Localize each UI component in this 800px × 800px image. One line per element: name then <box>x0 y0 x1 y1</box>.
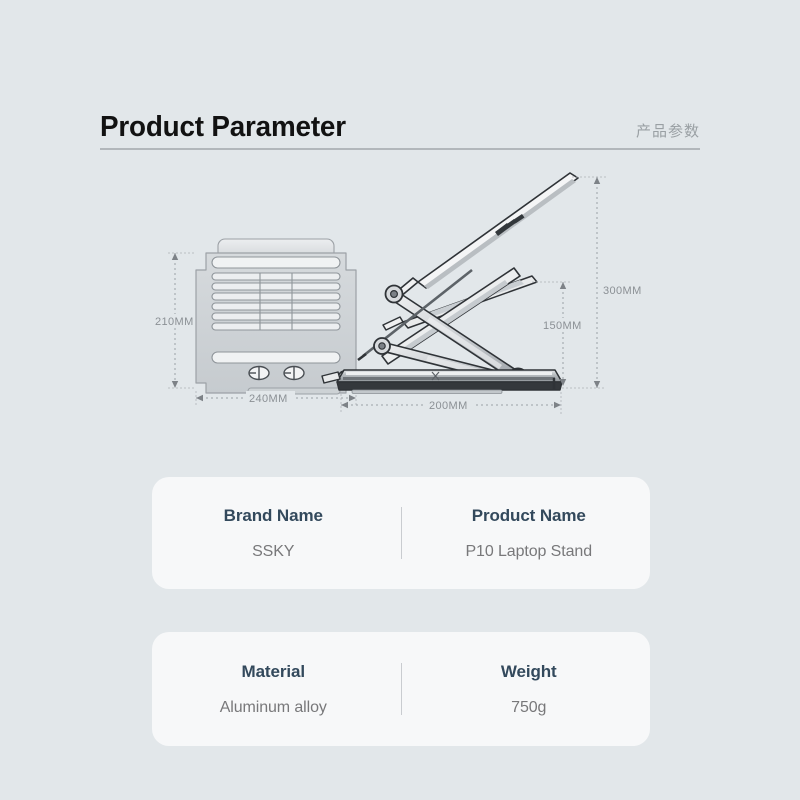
spec-label-material: Material <box>242 663 305 680</box>
dimension-label-240mm: 240MM <box>249 393 288 405</box>
spec-value-weight: 750g <box>511 700 546 716</box>
spec-cell-brand-name: Brand Name SSKY <box>152 477 401 589</box>
spec-cell-weight: Weight 750g <box>402 632 651 746</box>
cross-strut-foot <box>358 354 366 360</box>
spec-cell-product-name: Product Name P10 Laptop Stand <box>402 477 651 589</box>
side-view-group: 300MM 150MM 200MM <box>322 173 642 414</box>
dimension-depth-200: 200MM <box>341 392 561 414</box>
spec-card-material-weight: Material Aluminum alloy Weight 750g <box>152 632 650 746</box>
dimension-label-200mm: 200MM <box>429 400 468 412</box>
dimension-label-150mm: 150MM <box>543 320 582 332</box>
dimension-height-300: 300MM <box>562 177 642 388</box>
spec-label-weight: Weight <box>501 663 557 680</box>
page-header: Product Parameter 产品参数 <box>100 68 700 142</box>
stand-top-slot <box>212 257 340 268</box>
base-plate <box>337 370 562 394</box>
spec-label-brand-name: Brand Name <box>224 507 323 524</box>
dimension-height-210: 210MM <box>152 253 199 388</box>
spec-label-product-name: Product Name <box>472 507 586 524</box>
spec-value-brand-name: SSKY <box>252 544 294 560</box>
spec-value-product-name: P10 Laptop Stand <box>465 544 592 560</box>
spec-value-material: Aluminum alloy <box>220 700 327 716</box>
stand-lower-slot <box>212 352 340 363</box>
laptop-screen-plate <box>395 173 578 297</box>
dimension-label-300mm: 300MM <box>603 285 642 297</box>
spec-card-brand-product: Brand Name SSKY Product Name P10 Laptop … <box>152 477 650 589</box>
header-divider <box>100 148 700 150</box>
product-dimension-diagram: 210MM <box>100 160 700 430</box>
page-title: Product Parameter <box>100 113 346 142</box>
spec-cell-material: Material Aluminum alloy <box>152 632 401 746</box>
dimension-label-210mm: 210MM <box>155 316 194 328</box>
page-subtitle-chinese: 产品参数 <box>636 124 700 142</box>
product-diagram-area: 210MM <box>100 160 700 430</box>
